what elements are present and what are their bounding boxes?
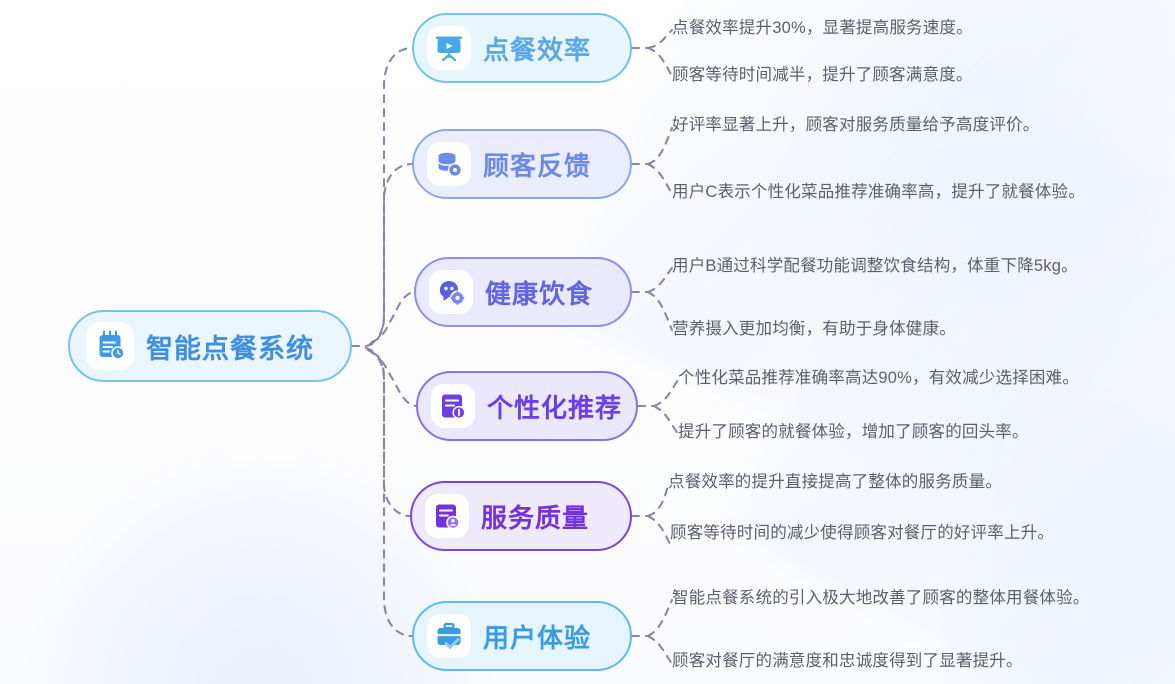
document-user-icon (425, 494, 469, 538)
connector-topic-5-branch-2 (648, 516, 670, 544)
topic-node-2-label: 顾客反馈 (483, 146, 591, 183)
topic-node-6-label: 用户体验 (483, 618, 591, 655)
topic-node-3-label: 健康饮食 (485, 274, 593, 311)
connector-topic-4-branch-2 (654, 406, 678, 434)
connector-topic-3-branch-2 (648, 292, 672, 330)
branch-text-5-1: 点餐效率的提升直接提高了整体的服务质量。 (668, 473, 1002, 493)
root-node-label: 智能点餐系统 (146, 327, 314, 366)
topic-node-1-label: 点餐效率 (483, 30, 591, 67)
connector-topic-2-branch-1 (648, 128, 672, 164)
topic-node-4[interactable]: 个性化推荐 (416, 371, 638, 441)
topic-node-6[interactable]: 用户体验 (412, 601, 632, 671)
notepad-clock-icon (86, 322, 134, 370)
topic-node-2[interactable]: 顾客反馈 (412, 129, 632, 199)
connector-root-to-topic-2 (370, 164, 412, 344)
presentation-play-icon (427, 26, 471, 70)
topic-node-5-label: 服务质量 (481, 498, 589, 535)
connector-root-to-topic-6 (366, 348, 412, 636)
database-gear-icon (427, 142, 471, 186)
root-node[interactable]: 智能点餐系统 (68, 310, 352, 382)
connector-topic-2-branch-2 (648, 164, 672, 194)
topic-node-3[interactable]: 健康饮食 (414, 257, 632, 327)
connector-topic-6-branch-2 (648, 636, 672, 664)
briefcase-check-icon (427, 614, 471, 658)
chat-gear-icon (429, 270, 473, 314)
topic-node-4-label: 个性化推荐 (487, 388, 622, 425)
connector-root-to-topic-1 (366, 48, 412, 346)
connector-topic-5-branch-1 (648, 486, 668, 516)
document-badge-icon (431, 384, 475, 428)
connector-topic-1-branch-1 (648, 30, 672, 48)
branch-text-6-2: 顾客对餐厅的满意度和忠诚度得到了显著提升。 (672, 652, 1023, 672)
branch-text-1-2: 顾客等待时间减半，提升了顾客满意度。 (672, 66, 973, 86)
branch-text-2-1: 好评率显著上升，顾客对服务质量给予高度评价。 (672, 116, 1039, 136)
branch-text-3-1: 用户B通过科学配餐功能调整饮食结构，体重下降5kg。 (672, 257, 1078, 277)
topic-node-5[interactable]: 服务质量 (410, 481, 632, 551)
topic-node-1[interactable]: 点餐效率 (412, 13, 632, 83)
branch-text-1-1: 点餐效率提升30%，显著提高服务速度。 (672, 19, 973, 39)
branch-text-2-2: 用户C表示个性化菜品推荐准确率高，提升了就餐体验。 (672, 183, 1085, 203)
mindmap-canvas: 智能点餐系统 点餐效率 点餐效率提升30%，显著提高服务速度。 顾客等待时间减半… (0, 0, 1175, 684)
branch-text-4-1: 个性化菜品推荐准确率高达90%，有效减少选择困难。 (678, 369, 1079, 389)
connector-topic-6-branch-1 (648, 600, 672, 636)
connector-topic-3-branch-1 (648, 268, 672, 292)
branch-text-5-2: 顾客等待时间的减少使得顾客对餐厅的好评率上升。 (670, 524, 1054, 544)
branch-text-4-2: 提升了顾客的就餐体验，增加了顾客的回头率。 (678, 423, 1029, 443)
connector-topic-4-branch-1 (654, 380, 678, 406)
branch-text-6-1: 智能点餐系统的引入极大地改善了顾客的整体用餐体验。 (672, 589, 1090, 609)
branch-text-3-2: 营养摄入更加均衡，有助于身体健康。 (672, 320, 956, 340)
connector-root-to-topic-3 (372, 292, 414, 342)
connector-topic-1-branch-2 (648, 48, 672, 76)
